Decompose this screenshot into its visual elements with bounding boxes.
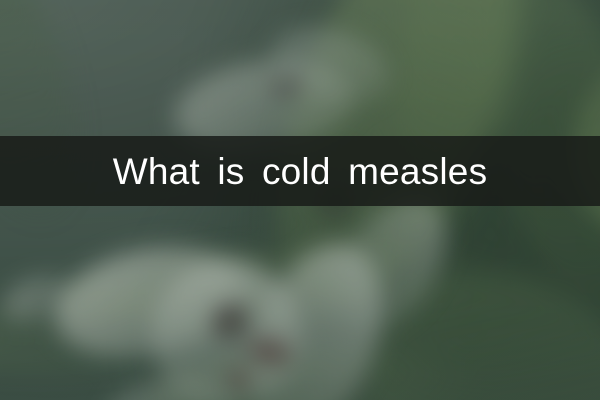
page-title: What is cold measles: [113, 153, 488, 190]
title-banner: What is cold measles: [0, 136, 600, 206]
hero-image: What is cold measles: [0, 0, 600, 400]
